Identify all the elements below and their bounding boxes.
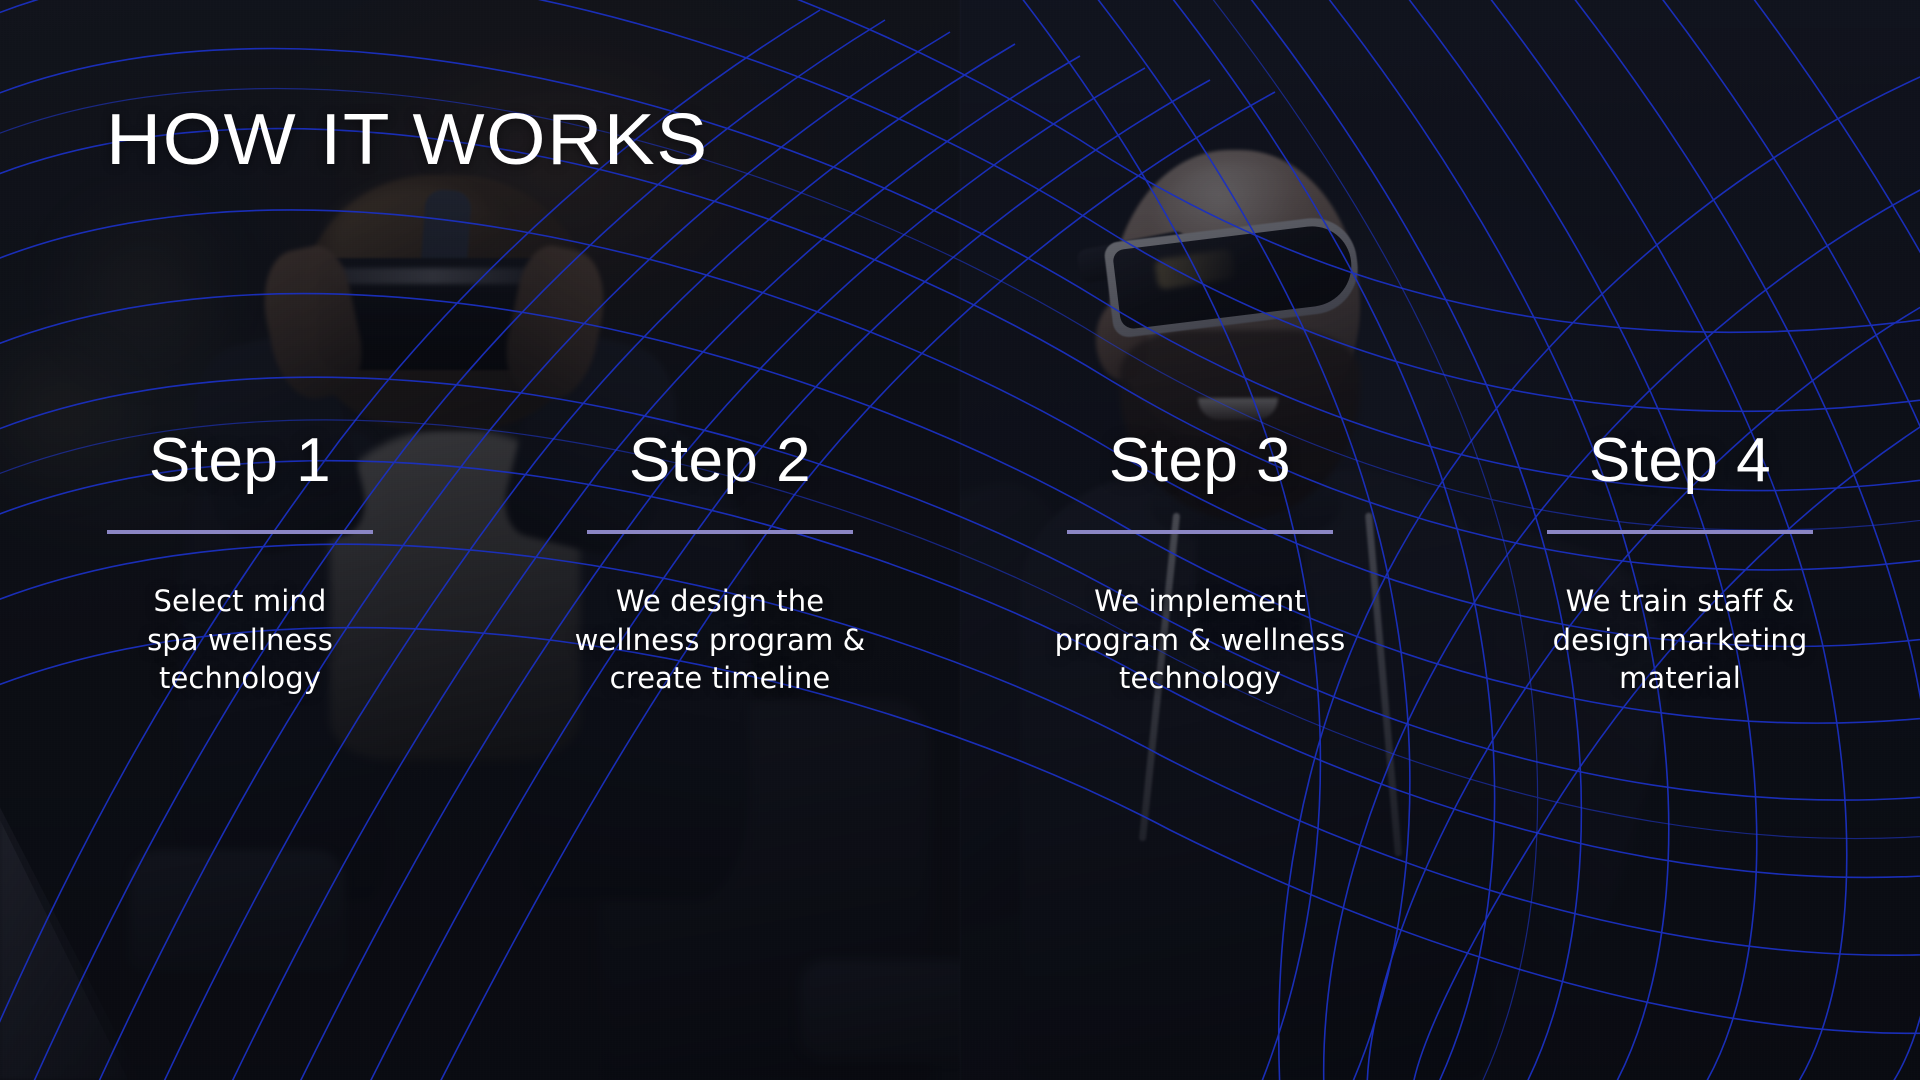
- page-title: HOW IT WORKS: [106, 104, 709, 176]
- step-2-divider: [587, 530, 853, 534]
- step-2-line-3: create timeline: [570, 659, 870, 698]
- step-2-heading: Step 2: [629, 430, 811, 492]
- step-1-divider: [107, 530, 373, 534]
- step-3-heading: Step 3: [1109, 430, 1291, 492]
- step-item-1: Step 1 Select mind spa wellness technolo…: [0, 430, 480, 698]
- step-3-line-3: technology: [1030, 659, 1370, 698]
- step-3-line-1: We implement: [1030, 582, 1370, 621]
- step-item-2: Step 2 We design the wellness program & …: [480, 430, 960, 698]
- step-4-heading: Step 4: [1589, 430, 1771, 492]
- step-3-description: We implement program & wellness technolo…: [1030, 582, 1370, 698]
- slide-content: HOW IT WORKS Step 1 Select mind spa well…: [0, 0, 1920, 1080]
- step-4-divider: [1547, 530, 1813, 534]
- step-2-line-1: We design the: [570, 582, 870, 621]
- step-4-line-3: material: [1510, 659, 1850, 698]
- step-1-line-3: technology: [90, 659, 390, 698]
- step-3-divider: [1067, 530, 1333, 534]
- step-2-description: We design the wellness program & create …: [570, 582, 870, 698]
- step-1-heading: Step 1: [149, 430, 331, 492]
- step-4-description: We train staff & design marketing materi…: [1510, 582, 1850, 698]
- step-4-line-2: design marketing: [1510, 621, 1850, 660]
- step-2-line-2: wellness program &: [570, 621, 870, 660]
- slide-how-it-works: HOW IT WORKS Step 1 Select mind spa well…: [0, 0, 1920, 1080]
- step-1-line-1: Select mind: [90, 582, 390, 621]
- step-item-3: Step 3 We implement program & wellness t…: [960, 430, 1440, 698]
- step-item-4: Step 4 We train staff & design marketing…: [1440, 430, 1920, 698]
- step-1-line-2: spa wellness: [90, 621, 390, 660]
- step-4-line-1: We train staff &: [1510, 582, 1850, 621]
- step-1-description: Select mind spa wellness technology: [90, 582, 390, 698]
- steps-row: Step 1 Select mind spa wellness technolo…: [0, 430, 1920, 698]
- step-3-line-2: program & wellness: [1030, 621, 1370, 660]
